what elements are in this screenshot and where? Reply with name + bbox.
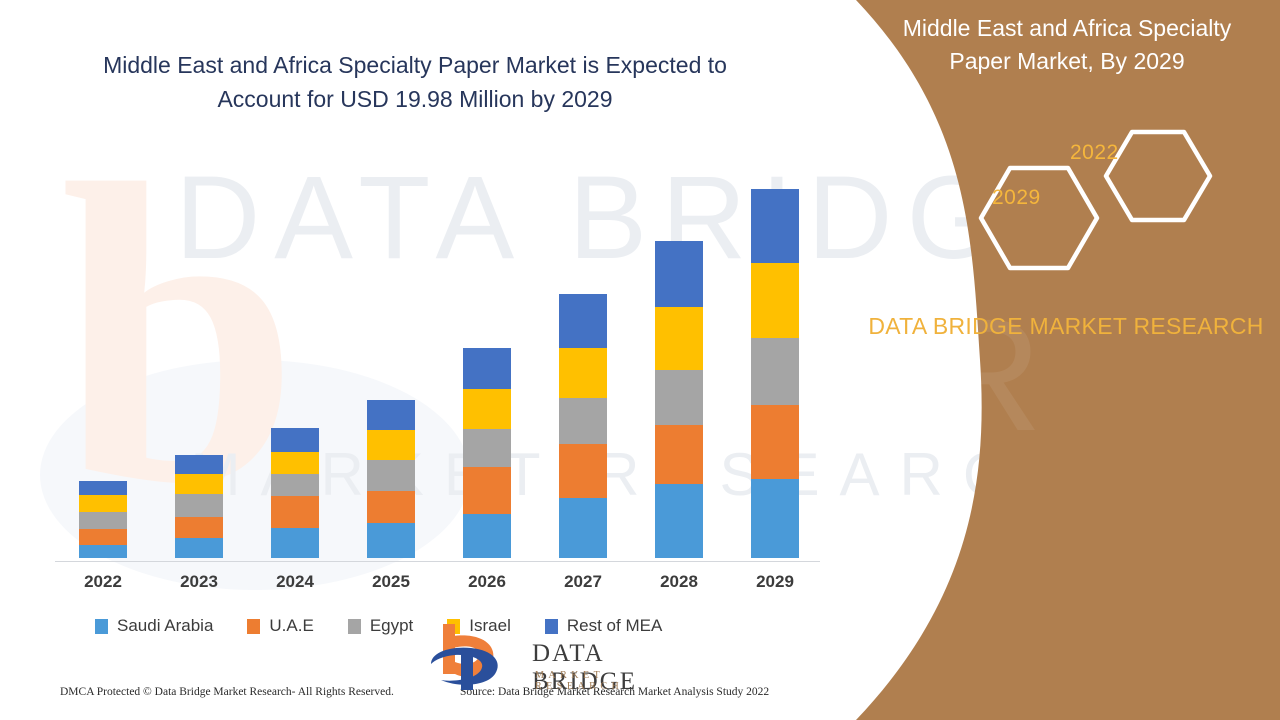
segment-rest-of-mea-2029 — [751, 189, 799, 263]
x-label-2022: 2022 — [68, 572, 138, 592]
chart-plot-area — [55, 170, 825, 559]
segment-egypt-2029 — [751, 338, 799, 405]
segment-egypt-2027 — [559, 398, 607, 444]
segment-saudi-arabia-2028 — [655, 484, 703, 558]
segment-rest-of-mea-2028 — [655, 241, 703, 307]
legend-swatch-icon — [95, 619, 108, 634]
x-axis-line — [55, 561, 820, 562]
legend-item-saudi-arabia[interactable]: Saudi Arabia — [95, 616, 213, 636]
hexagon-2029 — [981, 168, 1097, 268]
panel-title: Middle East and Africa Specialty Paper M… — [820, 12, 1264, 78]
legend-swatch-icon — [247, 619, 260, 634]
logo-mark-icon — [425, 618, 525, 696]
segment-israel-2029 — [751, 263, 799, 338]
segment-israel-2025 — [367, 430, 415, 460]
bar-2022 — [79, 481, 127, 558]
x-axis-labels: 20222023202420252026202720282029 — [55, 572, 825, 598]
legend-label: Egypt — [370, 616, 413, 636]
segment-egypt-2024 — [271, 474, 319, 496]
footer-copyright: DMCA Protected © Data Bridge Market Rese… — [60, 686, 394, 698]
logo-subtitle: MARKET RESEARCH — [535, 670, 660, 692]
segment-u-a-e-2027 — [559, 444, 607, 498]
segment-egypt-2023 — [175, 494, 223, 517]
x-label-2025: 2025 — [356, 572, 426, 592]
segment-u-a-e-2028 — [655, 425, 703, 484]
segment-saudi-arabia-2026 — [463, 514, 511, 558]
x-label-2028: 2028 — [644, 572, 714, 592]
hexagon-group: 2029 2022 — [940, 128, 1240, 273]
x-label-2023: 2023 — [164, 572, 234, 592]
legend-swatch-icon — [348, 619, 361, 634]
segment-israel-2023 — [175, 474, 223, 494]
segment-israel-2026 — [463, 389, 511, 429]
segment-u-a-e-2024 — [271, 496, 319, 529]
segment-rest-of-mea-2023 — [175, 455, 223, 475]
segment-u-a-e-2022 — [79, 529, 127, 546]
hexagon-2022-label: 2022 — [1070, 141, 1119, 165]
segment-u-a-e-2023 — [175, 517, 223, 539]
page-title: Middle East and Africa Specialty Paper M… — [70, 48, 760, 116]
hexagon-2029-label: 2029 — [992, 186, 1041, 210]
segment-u-a-e-2026 — [463, 467, 511, 513]
x-label-2029: 2029 — [740, 572, 810, 592]
bar-2028 — [655, 241, 703, 558]
legend-label: Saudi Arabia — [117, 616, 213, 636]
segment-egypt-2022 — [79, 512, 127, 529]
segment-saudi-arabia-2025 — [367, 523, 415, 558]
segment-u-a-e-2029 — [751, 405, 799, 479]
x-label-2026: 2026 — [452, 572, 522, 592]
segment-rest-of-mea-2026 — [463, 348, 511, 388]
bar-2026 — [463, 348, 511, 558]
segment-rest-of-mea-2027 — [559, 294, 607, 348]
segment-israel-2028 — [655, 307, 703, 370]
segment-egypt-2025 — [367, 460, 415, 491]
segment-rest-of-mea-2024 — [271, 428, 319, 452]
x-label-2027: 2027 — [548, 572, 618, 592]
bar-2029 — [751, 189, 799, 558]
segment-egypt-2026 — [463, 429, 511, 467]
x-label-2024: 2024 — [260, 572, 330, 592]
hexagon-2022 — [1106, 132, 1210, 220]
legend-item-egypt[interactable]: Egypt — [348, 616, 413, 636]
segment-saudi-arabia-2027 — [559, 498, 607, 558]
segment-saudi-arabia-2023 — [175, 538, 223, 558]
bar-2023 — [175, 455, 223, 558]
bar-2024 — [271, 428, 319, 558]
brand-name: DATA BRIDGE MARKET RESEARCH — [820, 310, 1270, 342]
segment-egypt-2028 — [655, 370, 703, 425]
segment-rest-of-mea-2022 — [79, 481, 127, 496]
data-bridge-logo: DATA BRIDGE MARKET RESEARCH — [425, 618, 660, 700]
segment-rest-of-mea-2025 — [367, 400, 415, 431]
segment-saudi-arabia-2024 — [271, 528, 319, 558]
segment-israel-2024 — [271, 452, 319, 475]
segment-israel-2022 — [79, 495, 127, 512]
legend-item-u-a-e[interactable]: U.A.E — [247, 616, 313, 636]
legend-label: U.A.E — [269, 616, 313, 636]
segment-saudi-arabia-2022 — [79, 545, 127, 558]
bar-2025 — [367, 400, 415, 558]
right-brand-panel: BR Middle East and Africa Specialty Pape… — [820, 0, 1280, 720]
stacked-bar-chart — [55, 170, 825, 562]
bar-2027 — [559, 294, 607, 558]
segment-israel-2027 — [559, 348, 607, 397]
segment-saudi-arabia-2029 — [751, 479, 799, 558]
segment-u-a-e-2025 — [367, 491, 415, 522]
